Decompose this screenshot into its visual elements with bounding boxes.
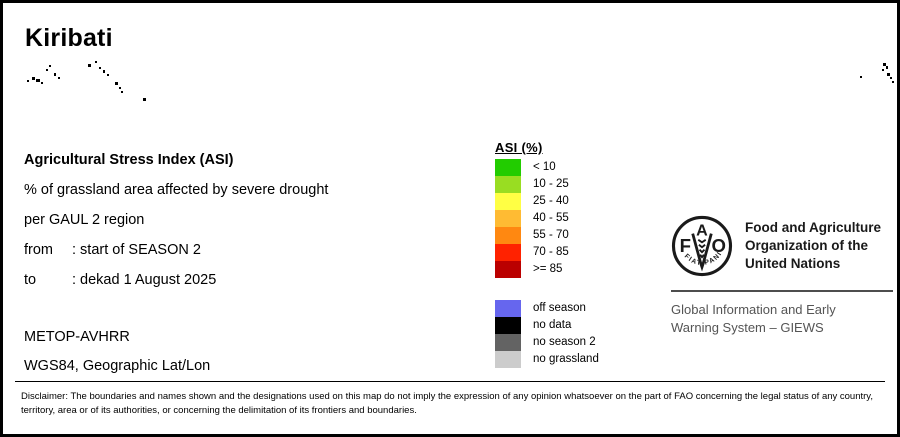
island-mark bbox=[54, 73, 56, 76]
island-mark bbox=[46, 69, 48, 71]
legend-class-swatch bbox=[495, 176, 521, 193]
fao-emblem-icon: F A O FIAT PANIS bbox=[671, 215, 733, 277]
legend-special-row[interactable]: no season 2 bbox=[495, 334, 599, 351]
map-info-block: Agricultural Stress Index (ASI) % of gra… bbox=[24, 145, 454, 295]
legend-special-row[interactable]: no data bbox=[495, 317, 599, 334]
legend-spacer bbox=[495, 278, 599, 300]
fao-name: Food and Agriculture Organization of the… bbox=[733, 219, 881, 273]
fao-divider bbox=[671, 290, 893, 292]
legend-special-list: off seasonno datano season 2no grassland bbox=[495, 300, 599, 368]
legend-class-swatch bbox=[495, 244, 521, 261]
map-poster: Kiribati Agricultural Stress Index (ASI)… bbox=[0, 0, 900, 437]
legend-special-label: no grassland bbox=[521, 351, 599, 368]
period-to-key: to bbox=[24, 265, 72, 295]
island-mark bbox=[882, 69, 884, 71]
legend-class-label: 25 - 40 bbox=[521, 193, 569, 210]
period-from-row: from : start of SEASON 2 bbox=[24, 235, 454, 265]
legend-special-swatch bbox=[495, 351, 521, 368]
fao-name-line-2: Organization of the bbox=[745, 237, 881, 255]
legend-class-list: < 1010 - 2525 - 4040 - 5555 - 7070 - 85>… bbox=[495, 159, 599, 278]
legend-class-swatch bbox=[495, 193, 521, 210]
legend-class-row[interactable]: 25 - 40 bbox=[495, 193, 599, 210]
disclaimer-text: Disclaimer: The boundaries and names sho… bbox=[21, 390, 881, 418]
island-mark bbox=[892, 81, 894, 83]
island-mark bbox=[49, 65, 51, 67]
projection-label: WGS84, Geographic Lat/Lon bbox=[24, 352, 454, 381]
legend-special-swatch bbox=[495, 334, 521, 351]
period-from-key: from bbox=[24, 235, 72, 265]
aggregation-level: per GAUL 2 region bbox=[24, 205, 454, 235]
legend-class-swatch bbox=[495, 210, 521, 227]
island-mark bbox=[115, 82, 118, 85]
legend-class-row[interactable]: 10 - 25 bbox=[495, 176, 599, 193]
island-mark bbox=[32, 77, 35, 80]
fao-logo-row: F A O FIAT PANIS Food and Agriculture Or… bbox=[671, 215, 893, 277]
legend-class-swatch bbox=[495, 159, 521, 176]
island-shapes bbox=[27, 61, 894, 101]
island-mark bbox=[41, 82, 43, 84]
island-mark bbox=[883, 63, 886, 66]
island-mark bbox=[860, 76, 862, 78]
island-mark bbox=[107, 74, 109, 76]
legend-class-label: 40 - 55 bbox=[521, 210, 569, 227]
legend-class-row[interactable]: >= 85 bbox=[495, 261, 599, 278]
island-mark bbox=[886, 66, 888, 69]
legend-special-row[interactable]: off season bbox=[495, 300, 599, 317]
legend-class-row[interactable]: 55 - 70 bbox=[495, 227, 599, 244]
period-from-value: : start of SEASON 2 bbox=[72, 235, 454, 265]
legend-class-swatch bbox=[495, 261, 521, 278]
island-mark bbox=[95, 61, 97, 63]
giews-line-1: Global Information and Early bbox=[671, 301, 893, 319]
island-mark bbox=[143, 98, 146, 101]
svg-text:A: A bbox=[696, 221, 708, 239]
island-mark bbox=[887, 73, 890, 76]
legend-class-label: < 10 bbox=[521, 159, 556, 176]
legend-class-row[interactable]: < 10 bbox=[495, 159, 599, 176]
island-mark bbox=[58, 77, 60, 79]
map-legend: ASI (%) < 1010 - 2525 - 4040 - 5555 - 70… bbox=[495, 140, 599, 368]
legend-title: ASI (%) bbox=[495, 140, 599, 155]
legend-special-label: off season bbox=[521, 300, 586, 317]
svg-text:F: F bbox=[680, 235, 691, 256]
legend-class-label: 55 - 70 bbox=[521, 227, 569, 244]
period-to-value: : dekad 1 August 2025 bbox=[72, 265, 454, 295]
island-mark bbox=[88, 64, 91, 67]
period-to-row: to : dekad 1 August 2025 bbox=[24, 265, 454, 295]
legend-class-row[interactable]: 70 - 85 bbox=[495, 244, 599, 261]
island-mark bbox=[121, 91, 123, 93]
island-mark bbox=[119, 87, 121, 89]
fao-name-line-1: Food and Agriculture bbox=[745, 219, 881, 237]
fao-branding: F A O FIAT PANIS Food and Agriculture Or… bbox=[671, 215, 893, 337]
legend-class-label: 10 - 25 bbox=[521, 176, 569, 193]
island-mark bbox=[36, 79, 40, 82]
page-title: Kiribati bbox=[25, 24, 113, 53]
map-source-block: METOP-AVHRR WGS84, Geographic Lat/Lon bbox=[24, 323, 454, 381]
legend-class-swatch bbox=[495, 227, 521, 244]
island-mark bbox=[99, 67, 101, 69]
island-mark bbox=[103, 70, 105, 73]
giews-line-2: Warning System – GIEWS bbox=[671, 319, 893, 337]
fao-name-line-3: United Nations bbox=[745, 255, 881, 273]
legend-special-label: no data bbox=[521, 317, 571, 334]
island-mark bbox=[890, 77, 892, 79]
legend-special-label: no season 2 bbox=[521, 334, 596, 351]
island-mark bbox=[27, 80, 29, 82]
indicator-subtitle: % of grassland area affected by severe d… bbox=[24, 175, 454, 205]
legend-class-label: >= 85 bbox=[521, 261, 562, 278]
legend-special-swatch bbox=[495, 300, 521, 317]
legend-special-row[interactable]: no grassland bbox=[495, 351, 599, 368]
disclaimer-divider bbox=[15, 381, 885, 382]
legend-special-swatch bbox=[495, 317, 521, 334]
legend-class-label: 70 - 85 bbox=[521, 244, 569, 261]
indicator-heading: Agricultural Stress Index (ASI) bbox=[24, 145, 454, 175]
legend-class-row[interactable]: 40 - 55 bbox=[495, 210, 599, 227]
giews-name: Global Information and Early Warning Sys… bbox=[671, 301, 893, 337]
sensor-label: METOP-AVHRR bbox=[24, 323, 454, 352]
